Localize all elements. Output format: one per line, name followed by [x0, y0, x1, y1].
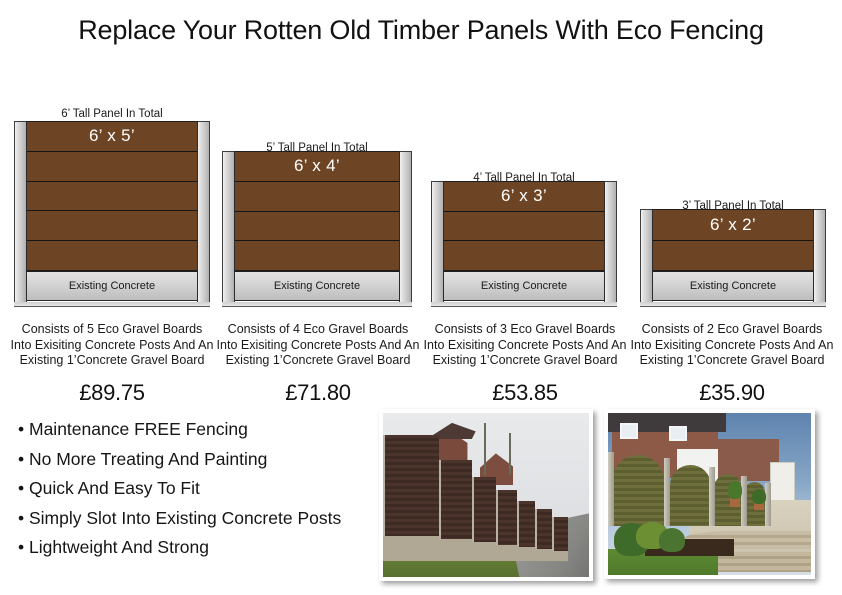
panel-body-3: 6’ x 3’ Existing Concrete [431, 181, 617, 301]
eco-board: 6’ x 4’ [235, 151, 399, 182]
eco-board [444, 240, 604, 271]
description-column-2: Consists of 4 Eco Gravel Boards Into Exi… [214, 322, 422, 406]
poster-root: Replace Your Rotten Old Timber Panels Wi… [0, 0, 842, 595]
benefit-item-3: •Quick And Easy To Fit [18, 474, 373, 504]
desc-line-1: Consists of 5 Eco Gravel Boards [8, 322, 216, 338]
bullet-dot-icon: • [18, 445, 29, 475]
ground-line-4 [640, 302, 826, 307]
house-window [620, 423, 638, 439]
eco-board [27, 210, 197, 241]
ground-line-1 [14, 302, 210, 307]
board-stack-4: 6’ x 2’ Existing Concrete [652, 209, 814, 301]
price-2: £71.80 [214, 380, 422, 406]
fence-panel-2: 5’ Tall Panel In Total 6’ x 4’ Existing … [222, 110, 412, 306]
panel-body-2: 6’ x 4’ Existing Concrete [222, 151, 412, 301]
eco-board [27, 181, 197, 212]
concrete-gravel-board [517, 545, 536, 560]
page-title: Replace Your Rotten Old Timber Panels Wi… [0, 15, 842, 46]
description-column-4: Consists of 2 Eco Gravel Boards Into Exi… [628, 322, 836, 406]
desc-line-3: Existing 1’Concrete Gravel Board [628, 353, 836, 369]
desc-line-2: Into Exisiting Concrete Posts And An [628, 338, 836, 354]
potted-plant [752, 489, 766, 504]
benefit-label: Quick And Easy To Fit [29, 478, 200, 498]
eco-board [444, 211, 604, 242]
ground-line-3 [431, 302, 617, 307]
price-1: £89.75 [8, 380, 216, 406]
panel-size-label-1: 6’ x 5’ [27, 126, 197, 146]
eco-board [653, 240, 813, 272]
eco-board [27, 151, 197, 182]
price-4: £35.90 [628, 380, 836, 406]
fence-bay [612, 455, 664, 527]
fence-post-right-1 [197, 121, 210, 306]
fence-post-right-3 [604, 181, 617, 306]
fence-panel-4: 3’ Tall Panel In Total 6’ x 2’ Existing … [640, 110, 826, 306]
existing-concrete-board-2: Existing Concrete [235, 271, 399, 301]
desc-line-1: Consists of 3 Eco Gravel Boards [421, 322, 629, 338]
bullet-dot-icon: • [18, 504, 29, 534]
desc-line-2: Into Exisiting Concrete Posts And An [214, 338, 422, 354]
concrete-gravel-board [472, 539, 497, 560]
desc-line-2: Into Exisiting Concrete Posts And An [8, 338, 216, 354]
fence-bay [552, 517, 568, 552]
fence-post [765, 483, 771, 526]
board-stack-3: 6’ x 3’ Existing Concrete [443, 181, 605, 301]
ground-line-2 [222, 302, 412, 307]
board-stack-1: 6’ x 5’ Existing Concrete [26, 121, 198, 301]
price-3: £53.85 [421, 380, 629, 406]
panel-caption-1: 6’ Tall Panel In Total [61, 108, 162, 120]
desc-line-3: Existing 1’Concrete Gravel Board [421, 353, 629, 369]
panel-size-label-3: 6’ x 3’ [444, 186, 604, 206]
fence-post-right-2 [399, 151, 412, 306]
shrub [659, 528, 685, 552]
benefit-item-5: •Lightweight And Strong [18, 533, 373, 563]
desc-line-1: Consists of 4 Eco Gravel Boards [214, 322, 422, 338]
fence-post [709, 467, 715, 527]
existing-concrete-board-1: Existing Concrete [27, 271, 197, 301]
panel-body-1: 6’ x 5’ Existing Concrete [14, 121, 210, 301]
fence-panel-1: 6’ Tall Panel In Total 6’ x 5’ Existing … [14, 110, 210, 306]
photo-green-fence [604, 409, 815, 579]
fence-post-right-4 [813, 209, 826, 306]
panel-size-label-2: 6’ x 4’ [235, 156, 399, 176]
photo-brown-fence-image [383, 413, 589, 577]
existing-concrete-board-4: Existing Concrete [653, 271, 813, 301]
fence-bay [535, 509, 551, 550]
description-column-1: Consists of 5 Eco Gravel Boards Into Exi… [8, 322, 216, 406]
benefit-item-4: •Simply Slot Into Existing Concrete Post… [18, 504, 373, 534]
eco-board [235, 181, 399, 212]
photo-green-fence-image [608, 413, 811, 575]
benefit-label: Lightweight And Strong [29, 537, 209, 557]
board-stack-2: 6’ x 4’ Existing Concrete [234, 151, 400, 301]
benefit-label: No More Treating And Painting [29, 449, 267, 469]
bullet-dot-icon: • [18, 474, 29, 504]
fence-post [664, 458, 670, 527]
fence-bay [383, 435, 439, 537]
fence-post [741, 476, 747, 527]
bullet-dot-icon: • [18, 415, 29, 445]
photo-brown-fence [379, 409, 593, 581]
eco-board: 6’ x 2’ [653, 209, 813, 241]
desc-line-3: Existing 1’Concrete Gravel Board [8, 353, 216, 369]
benefit-label: Maintenance FREE Fencing [29, 419, 248, 439]
eco-board [27, 240, 197, 271]
eco-board: 6’ x 3’ [444, 181, 604, 212]
panel-body-4: 6’ x 2’ Existing Concrete [640, 209, 826, 301]
existing-concrete-board-3: Existing Concrete [444, 271, 604, 301]
panel-size-label-4: 6’ x 2’ [653, 215, 813, 235]
bullet-dot-icon: • [18, 533, 29, 563]
fence-run [383, 459, 589, 561]
eco-board: 6’ x 5’ [27, 121, 197, 152]
panel-diagram-group: 6’ Tall Panel In Total 6’ x 5’ Existing … [0, 96, 842, 306]
eco-board [235, 211, 399, 242]
benefit-item-1: •Maintenance FREE Fencing [18, 415, 373, 445]
fence-run [608, 452, 795, 527]
desc-line-1: Consists of 2 Eco Gravel Boards [628, 322, 836, 338]
eco-board [235, 240, 399, 271]
desc-line-2: Into Exisiting Concrete Posts And An [421, 338, 629, 354]
fence-bay [517, 501, 536, 548]
fence-post [608, 452, 614, 527]
fence-bay [439, 460, 472, 539]
benefits-list: •Maintenance FREE Fencing •No More Treat… [18, 415, 373, 563]
desc-line-3: Existing 1’Concrete Gravel Board [214, 353, 422, 369]
description-group: Consists of 5 Eco Gravel Boards Into Exi… [0, 322, 842, 402]
fence-bay [472, 477, 497, 542]
potted-plant [728, 481, 742, 499]
fence-bay [496, 490, 517, 545]
fence-panel-3: 4’ Tall Panel In Total 6’ x 3’ Existing … [431, 110, 617, 306]
description-column-3: Consists of 3 Eco Gravel Boards Into Exi… [421, 322, 629, 406]
house-window [669, 426, 687, 441]
benefit-label: Simply Slot Into Existing Concrete Posts [29, 508, 341, 528]
benefit-item-2: •No More Treating And Painting [18, 445, 373, 475]
fence-bay [670, 465, 711, 526]
